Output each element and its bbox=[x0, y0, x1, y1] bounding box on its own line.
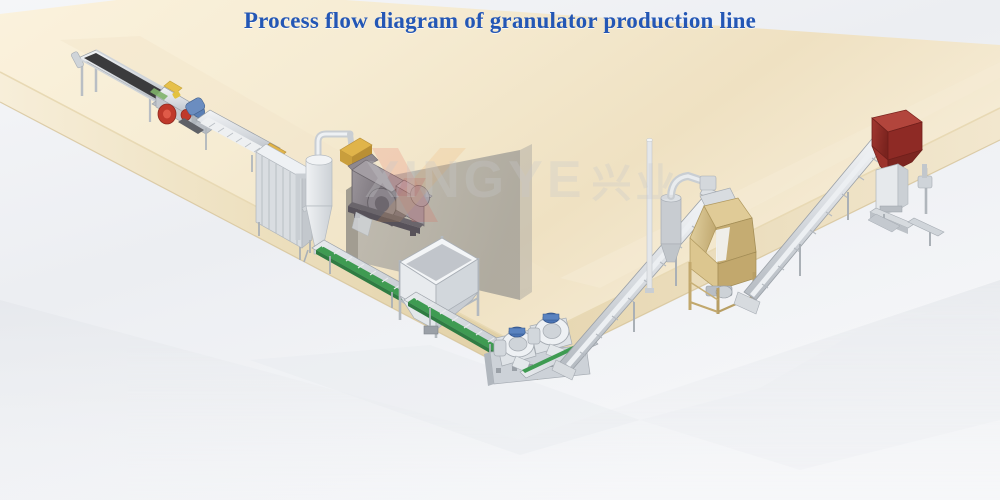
process-flow-scene bbox=[0, 0, 1000, 500]
diagram-canvas: Process flow diagram of granulator produ… bbox=[0, 0, 1000, 500]
